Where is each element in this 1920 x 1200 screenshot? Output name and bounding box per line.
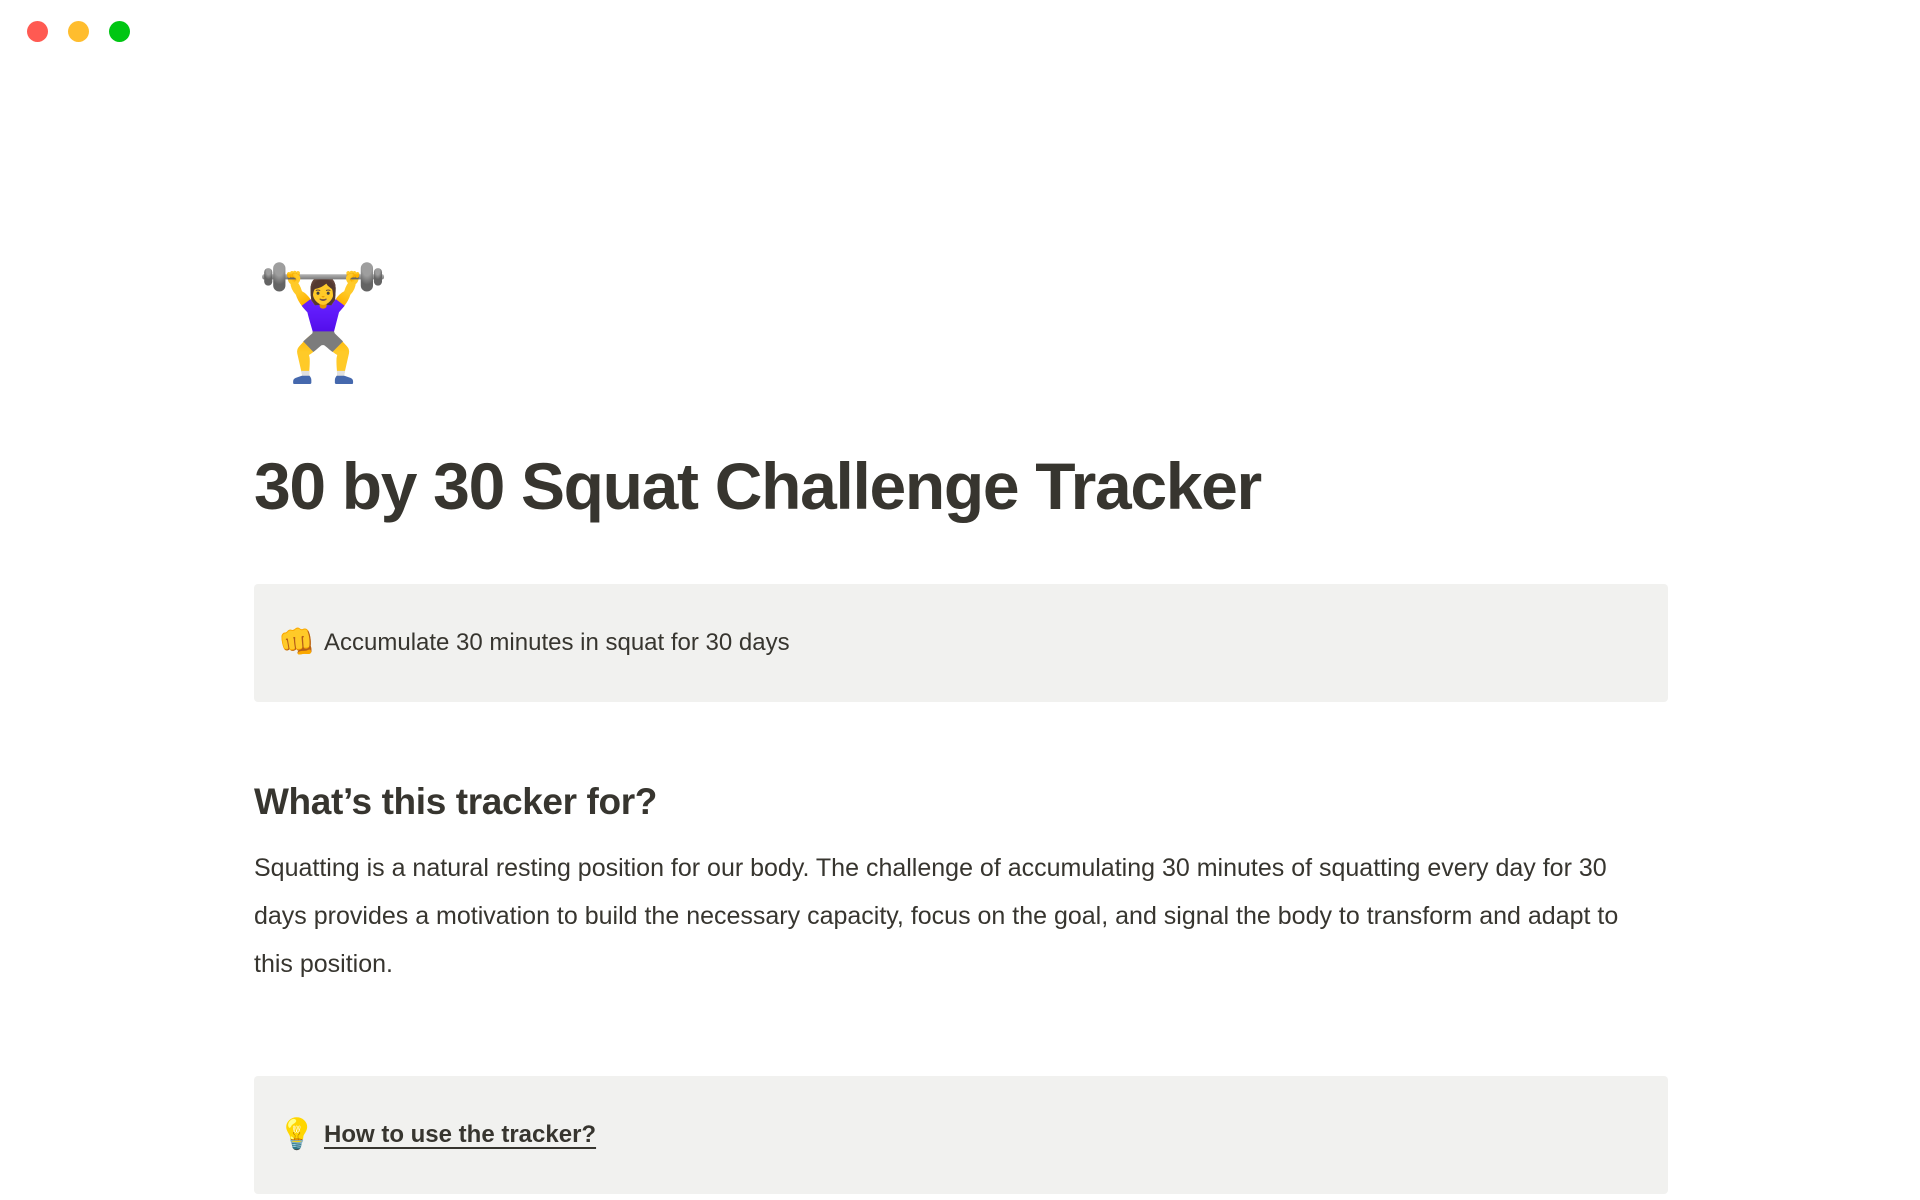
section-heading-about[interactable]: What’s this tracker for? xyxy=(254,780,1668,824)
page-title[interactable]: 30 by 30 Squat Challenge Tracker xyxy=(254,450,1668,524)
window-title-bar xyxy=(0,0,1920,62)
oncoming-fist-icon[interactable]: 👊 xyxy=(278,623,324,663)
page-content: 🏋️‍♀️ 30 by 30 Squat Challenge Tracker 👊… xyxy=(254,248,1668,1194)
maximize-window-button[interactable] xyxy=(109,21,130,42)
woman-lifting-weights-icon[interactable]: 🏋️‍♀️ xyxy=(254,248,1668,398)
traffic-lights xyxy=(27,21,130,42)
callout-how-to-use[interactable]: 💡 How to use the tracker? xyxy=(254,1076,1668,1194)
minimize-window-button[interactable] xyxy=(68,21,89,42)
how-to-use-tracker-link[interactable]: How to use the tracker? xyxy=(324,1115,596,1155)
callout-goal[interactable]: 👊 Accumulate 30 minutes in squat for 30 … xyxy=(254,584,1668,702)
close-window-button[interactable] xyxy=(27,21,48,42)
section-about-paragraph[interactable]: Squatting is a natural resting position … xyxy=(254,844,1654,988)
page-scroll-area[interactable]: 🏋️‍♀️ 30 by 30 Squat Challenge Tracker 👊… xyxy=(0,62,1920,1200)
light-bulb-icon[interactable]: 💡 xyxy=(278,1115,324,1155)
callout-goal-text[interactable]: Accumulate 30 minutes in squat for 30 da… xyxy=(324,623,790,663)
